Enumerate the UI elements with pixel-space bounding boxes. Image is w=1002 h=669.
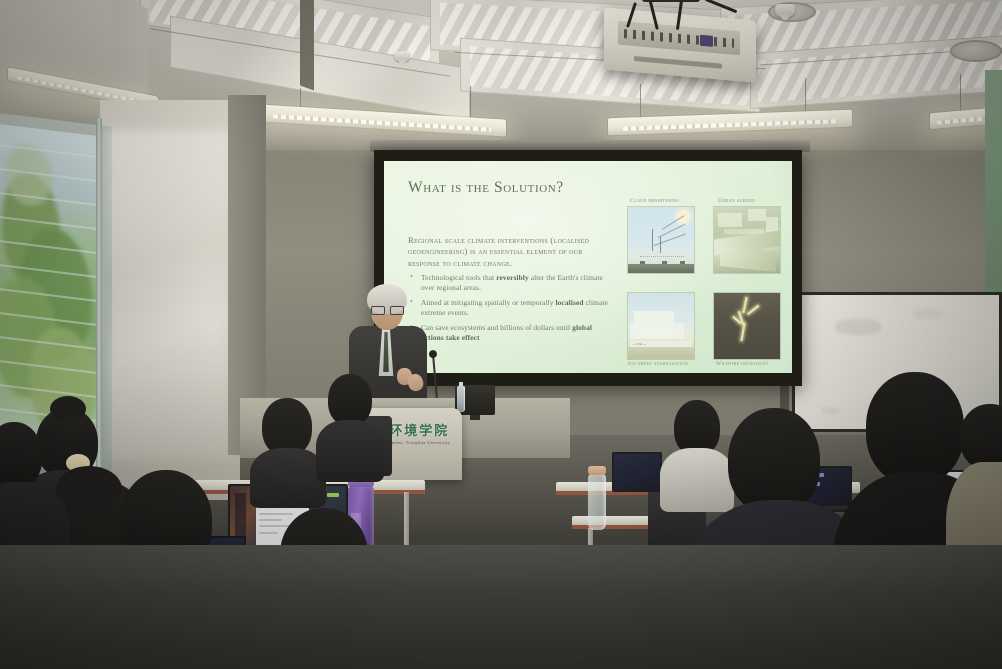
projector-cables (612, 0, 752, 30)
smoke-detector-icon (775, 4, 795, 17)
lecture-hall-photo: What is the Solution? Regional scale cli… (0, 0, 1002, 669)
figure-caption-ice-sheet: Ice-sheet stabilisation (628, 361, 688, 367)
student-mid-left-2 (316, 374, 382, 474)
glasses-icon (371, 306, 403, 313)
ceiling-vent-icon-2 (950, 40, 1002, 62)
smoke-detector-icon-2 (394, 51, 410, 61)
slide-content: What is the Solution? Regional scale cli… (384, 161, 792, 373)
slide-bullet-2: Aimed at mitigating spatially or tempora… (408, 298, 608, 317)
figure-caption-urban-albedo: Urban albedo (718, 198, 755, 204)
figure-wildfire-lightning (714, 293, 780, 359)
slide-bullet-1: Technological tools that reversibly alte… (408, 273, 608, 292)
slide-lead-text: Regional scale climate interventions (lo… (408, 235, 604, 269)
slide-title: What is the Solution? (408, 179, 564, 197)
sunlight-patch (105, 130, 230, 460)
figure-caption-cloud-brightening: Cloud brightening (630, 198, 680, 204)
slide-figure-grid: Cloud brightening Urban albedo (628, 207, 780, 359)
slide-bullet-list: Technological tools that reversibly alte… (408, 273, 608, 349)
figure-caption-wildfire: Wildfire initiation? (716, 361, 769, 367)
clear-water-bottle (588, 474, 606, 530)
figure-cloud-brightening (628, 207, 694, 273)
floor (0, 545, 1002, 669)
laptop-center-open[interactable] (612, 452, 662, 492)
figure-ice-sheet: — ICE — (628, 293, 694, 359)
figure-urban-albedo (714, 207, 780, 273)
podium-water-bottle (457, 386, 465, 412)
student-mid-left-1 (252, 398, 322, 494)
hair-bun (50, 396, 86, 422)
slide-bullet-3: Can save ecosystems and billions of doll… (408, 323, 608, 342)
